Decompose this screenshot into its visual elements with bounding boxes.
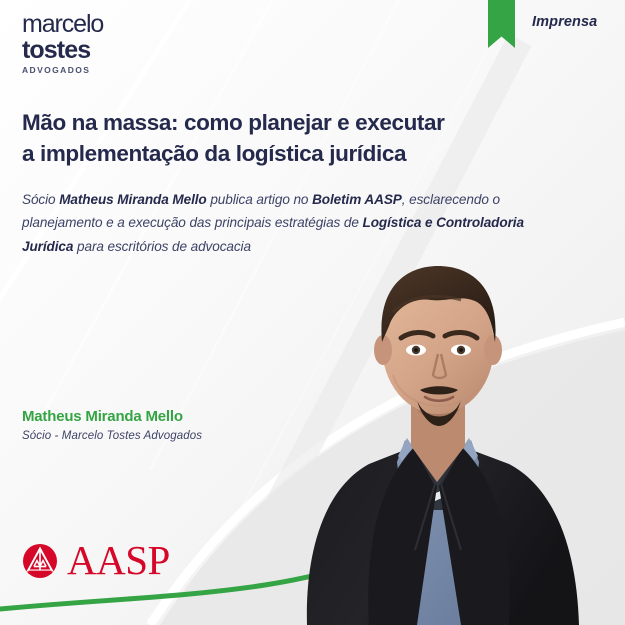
- firm-logo-line2: tostes: [22, 38, 103, 63]
- aasp-logo[interactable]: AASP: [22, 540, 170, 581]
- bookmark-ribbon-icon: [488, 0, 515, 48]
- category-label: Imprensa: [532, 14, 597, 30]
- aasp-wordmark: AASP: [67, 540, 170, 581]
- subtitle-seg-2: publica artigo no: [207, 192, 312, 207]
- scales-of-justice-emblem-icon: [22, 543, 58, 579]
- headline-line-2: a implementação da logística jurídica: [22, 138, 522, 169]
- subtitle-seg-4: para escritórios de advocacia: [73, 239, 251, 254]
- person-role: Sócio - Marcelo Tostes Advogados: [22, 430, 202, 442]
- subtitle-bold-publication: Boletim AASP: [312, 192, 402, 207]
- subtitle-bold-author: Matheus Miranda Mello: [59, 192, 206, 207]
- firm-logo-tagline: ADVOGADOS: [22, 66, 103, 75]
- firm-logo[interactable]: marcelo tostes ADVOGADOS: [22, 12, 103, 75]
- subtitle-text: Sócio Matheus Miranda Mello publica arti…: [22, 188, 527, 258]
- headline-line-1: Mão na massa: como planejar e executar: [22, 107, 522, 138]
- subtitle-seg-1: Sócio: [22, 192, 59, 207]
- person-name: Matheus Miranda Mello: [22, 408, 183, 425]
- firm-logo-line1: marcelo: [22, 12, 103, 37]
- page-title: Mão na massa: como planejar e executar a…: [22, 107, 522, 169]
- portrait-photo: [265, 250, 625, 625]
- press-announcement-card: marcelo tostes ADVOGADOS Imprensa Mão na…: [0, 0, 625, 625]
